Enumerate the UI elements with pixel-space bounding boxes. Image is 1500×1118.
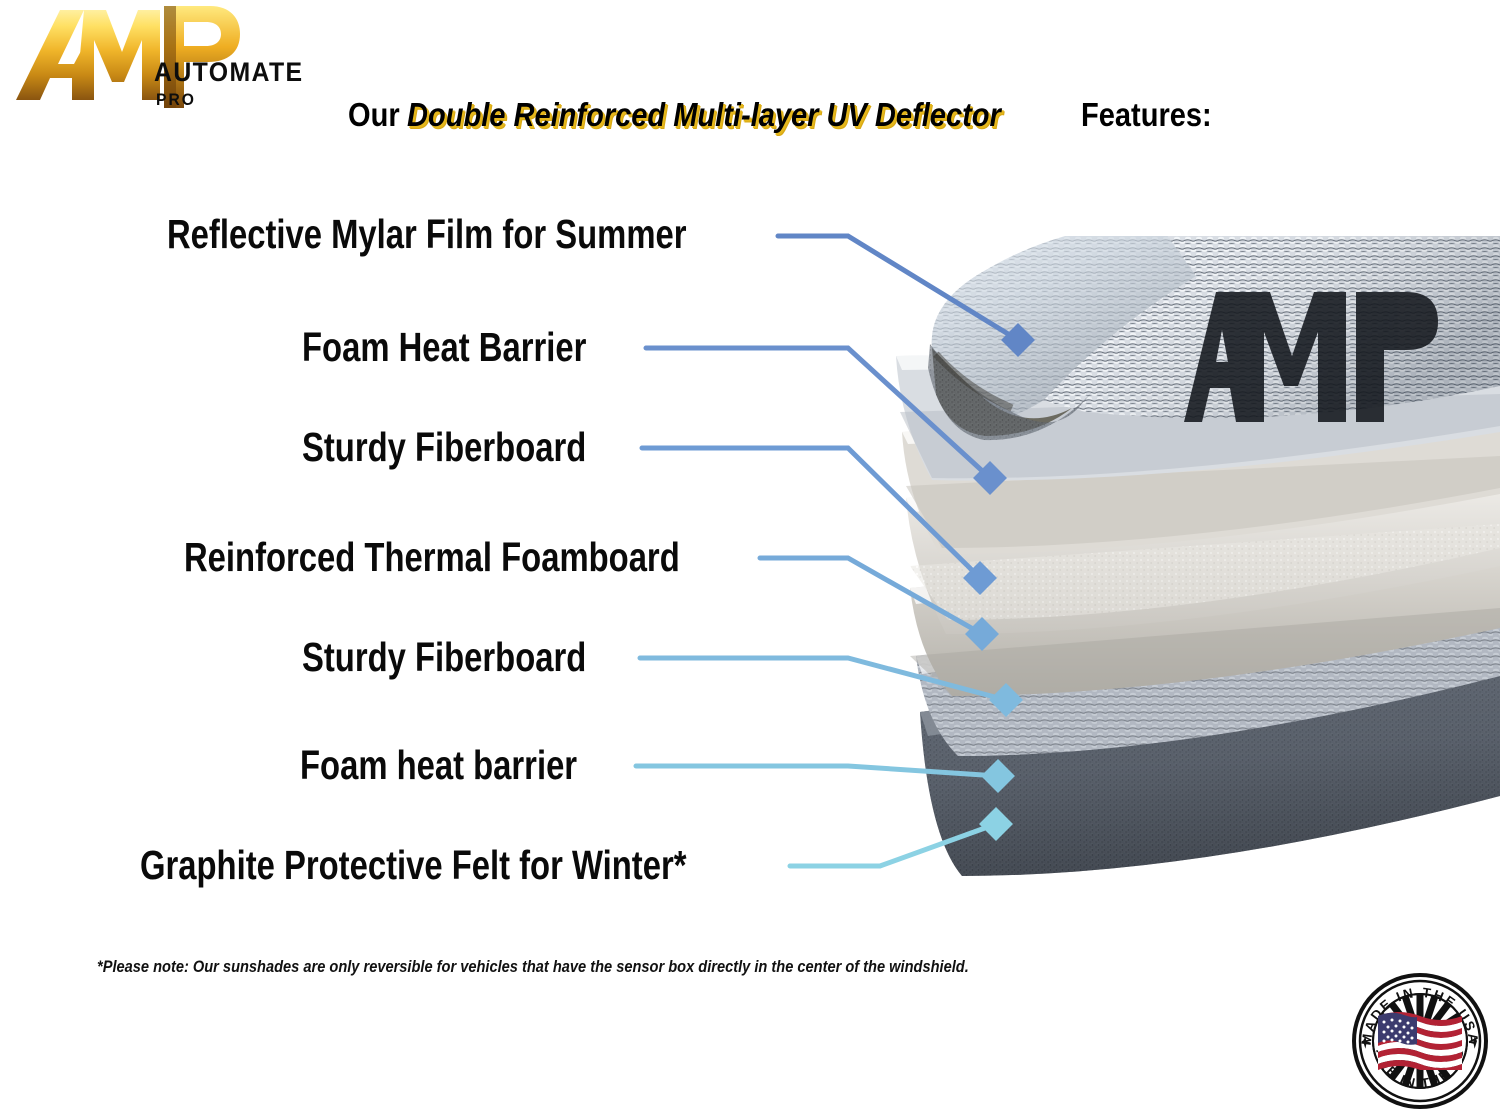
footnote-text: *Please note: Our sunshades are only rev… xyxy=(97,957,969,977)
layer-label-reflective-mylar-film: Reflective Mylar Film for Summer xyxy=(167,214,687,255)
brand-automate-text: AUTOMATE xyxy=(154,59,329,86)
infographic-canvas: AUTOMATE PRO Our Double Reinforced Multi… xyxy=(0,0,1500,1118)
sunshade-layers-illustration xyxy=(866,236,1500,902)
made-in-usa-badge: MADE IN THE USA MADE IN THE USA xyxy=(1351,972,1489,1110)
layer-label-graphite-protective-felt: Graphite Protective Felt for Winter* xyxy=(140,845,686,886)
brand-wordmark: AUTOMATE PRO xyxy=(154,59,344,108)
headline-suffix: Features: xyxy=(1081,98,1212,131)
page-title: Our Double Reinforced Multi-layer UV Def… xyxy=(348,98,1230,131)
headline-emphasis: Double Reinforced Multi-layer UV Deflect… xyxy=(407,98,1001,131)
layer-label-sturdy-fiberboard-bottom: Sturdy Fiberboard xyxy=(302,637,586,678)
product-cutaway-image xyxy=(866,236,1500,902)
made-in-usa-seal-icon: MADE IN THE USA MADE IN THE USA xyxy=(1351,972,1489,1110)
layer-label-foam-heat-barrier-top: Foam Heat Barrier xyxy=(302,327,586,368)
us-flag-icon xyxy=(1378,1012,1462,1074)
layer-label-sturdy-fiberboard-top: Sturdy Fiberboard xyxy=(302,427,586,468)
layer-label-foam-heat-barrier-bottom: Foam heat barrier xyxy=(300,745,577,786)
headline-prefix: Our xyxy=(348,98,400,131)
brand-pro-text: PRO xyxy=(156,91,329,108)
brand-logo: AUTOMATE PRO xyxy=(14,4,334,120)
layer-label-reinforced-thermal-foamboard: Reinforced Thermal Foamboard xyxy=(184,537,680,578)
